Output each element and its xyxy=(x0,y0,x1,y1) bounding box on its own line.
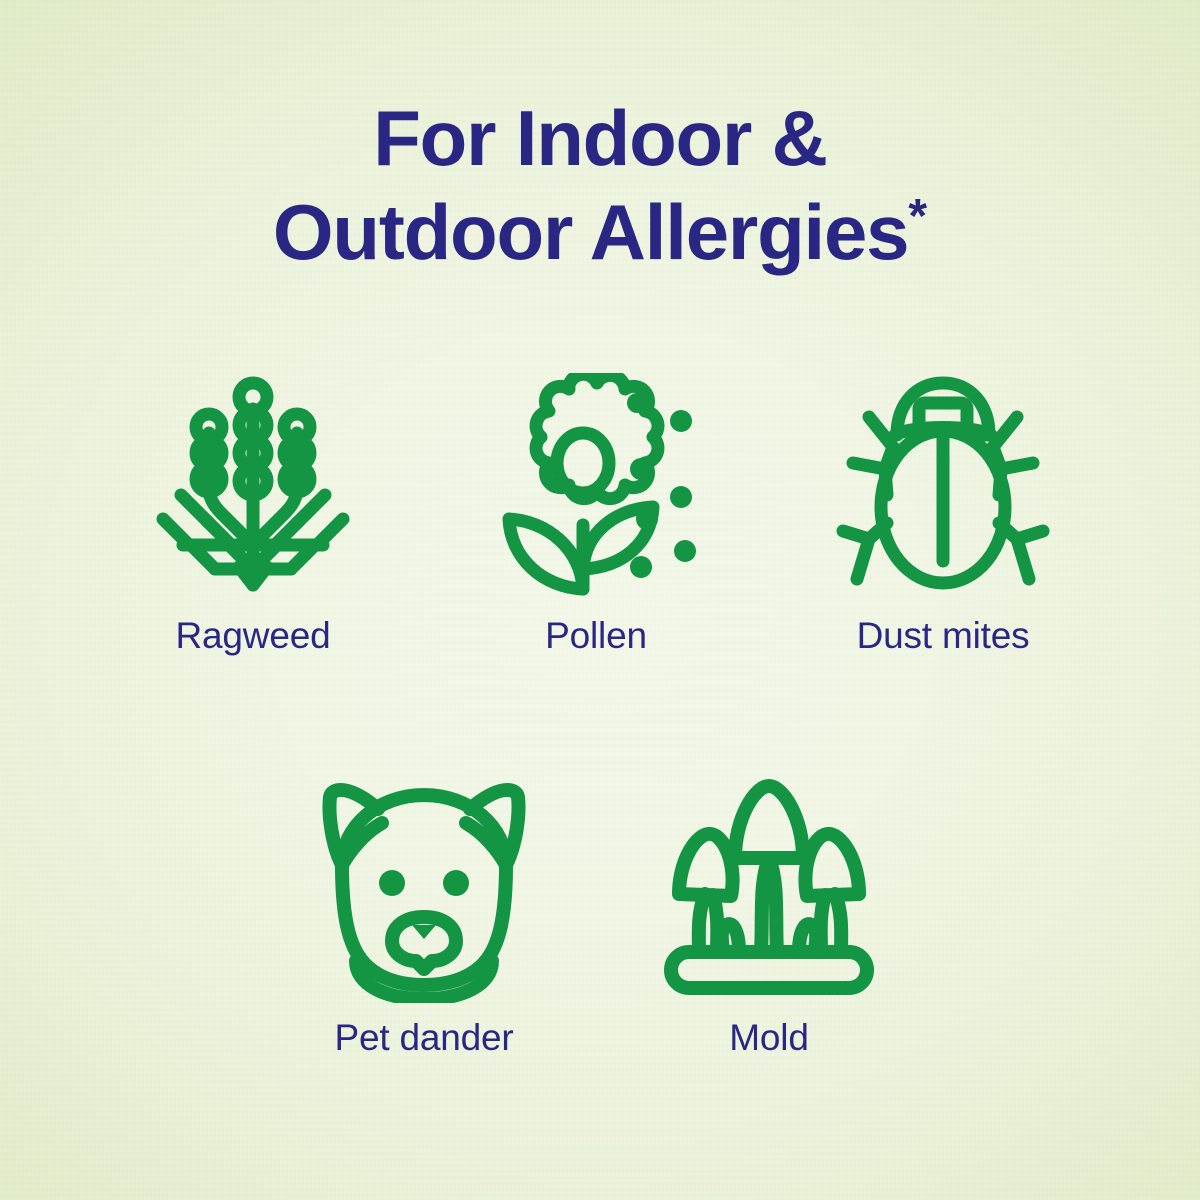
allergen-item-dust-mites: Dust mites xyxy=(793,370,1093,658)
footnote-asterisk: * xyxy=(908,190,927,243)
page-title-line-2-text: Outdoor Allergies xyxy=(273,188,908,276)
allergen-label-pet-dander: Pet dander xyxy=(274,1016,574,1060)
allergen-item-pollen: Pollen xyxy=(446,370,746,658)
ragweed-plant-icon xyxy=(103,370,403,600)
dust-mite-beetle-icon xyxy=(793,370,1093,600)
allergen-label-pollen: Pollen xyxy=(446,614,746,658)
page-title-line-2: Outdoor Allergies* xyxy=(0,190,1200,274)
allergen-label-ragweed: Ragweed xyxy=(103,614,403,658)
allergen-item-mold: Mold xyxy=(619,772,919,1060)
allergen-label-dust-mites: Dust mites xyxy=(793,614,1093,658)
allergy-infographic-poster: For Indoor & Outdoor Allergies* xyxy=(0,0,1200,1200)
page-title: For Indoor & Outdoor Allergies* xyxy=(0,96,1200,274)
flower-pollen-icon xyxy=(446,370,746,600)
mushrooms-mold-icon xyxy=(619,772,919,1002)
allergen-item-pet-dander: Pet dander xyxy=(274,772,574,1060)
allergen-item-ragweed: Ragweed xyxy=(103,370,403,658)
page-title-line-1: For Indoor & xyxy=(0,96,1200,180)
dog-face-icon xyxy=(274,772,574,1002)
allergen-label-mold: Mold xyxy=(619,1016,919,1060)
